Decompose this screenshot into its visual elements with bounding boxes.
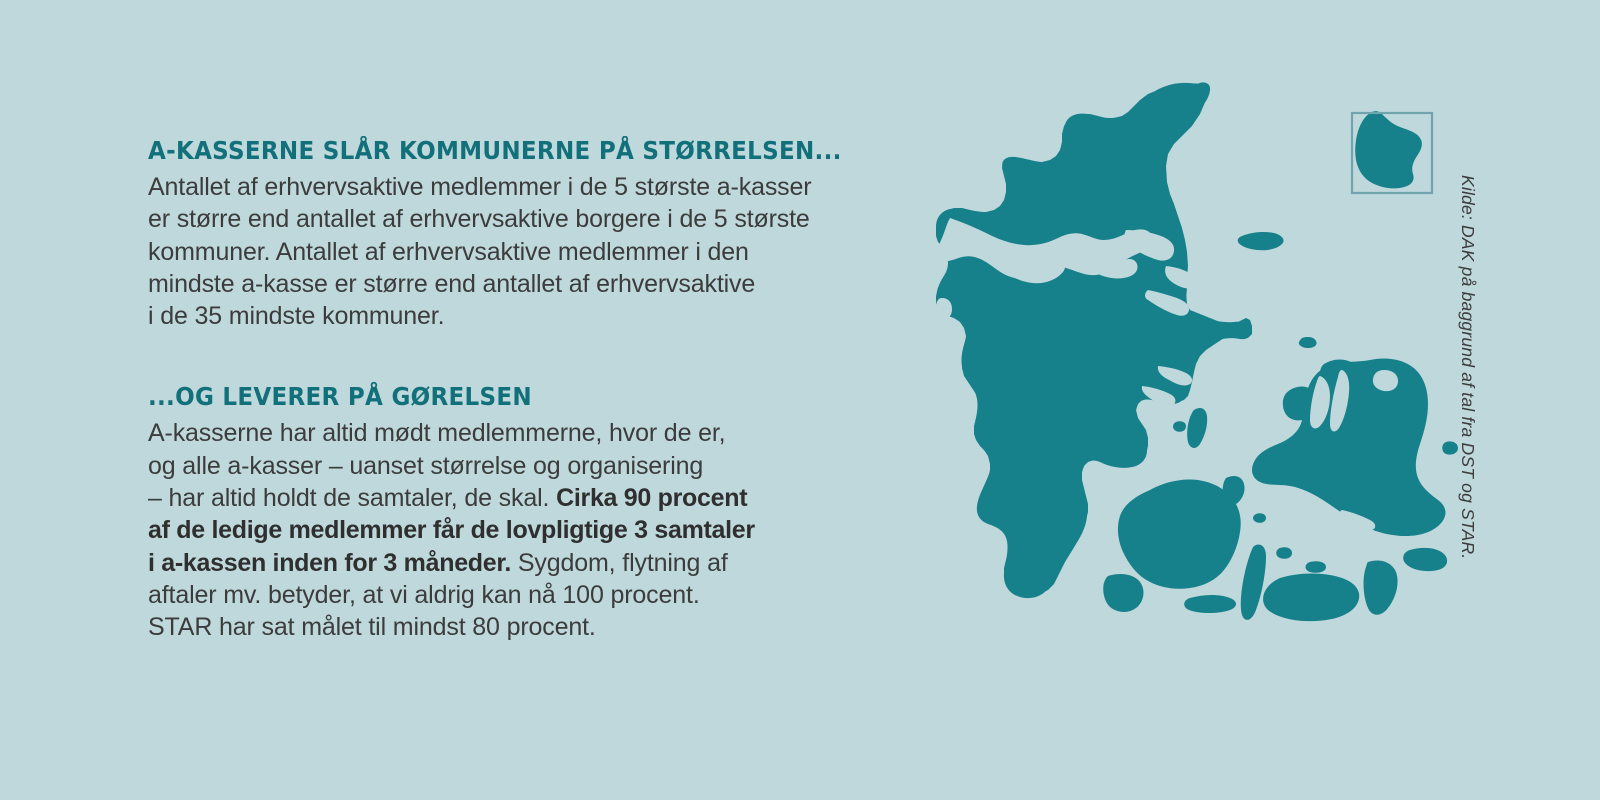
text-column: A-KASSERNE SLÅR KOMMUNERNE PÅ STØRRELSEN… (148, 136, 908, 644)
block-1-line-3: kommuner. Antallet af erhvervsaktive med… (148, 236, 908, 268)
block-1-heading: A-KASSERNE SLÅR KOMMUNERNE PÅ STØRRELSEN… (148, 136, 862, 166)
sprogo-isle (1253, 513, 1266, 523)
block-2-bold-tail: Sygdom, flytning af (511, 549, 728, 577)
denmark-landmass (929, 82, 1458, 621)
block-2-bold-part-3: i a-kassen inden for 3 måneder. (148, 549, 511, 577)
block-2-bold-part-1: Cirka 90 procent (556, 484, 747, 512)
bornholm-island (1355, 111, 1422, 188)
block-2-line-4: af de ledige medlemmer får de lovpligtig… (148, 514, 908, 546)
block-1-line-5: i de 35 mindste kommuner. (148, 300, 908, 332)
als-island (1103, 574, 1143, 612)
funen-island (1118, 479, 1241, 588)
anholt-island (1299, 337, 1317, 348)
block-2-bold-part-2: af de ledige medlemmer får de lovpligtig… (148, 516, 755, 544)
block-2-line-2: og alle a-kasser – uanset størrelse og o… (148, 450, 908, 482)
block-1-body: Antallet af erhvervsaktive medlemmer i d… (148, 171, 908, 332)
block-2-line-7: STAR har sat målet til mindst 80 procent… (148, 611, 908, 643)
block-2-line-3-plain: – har altid holdt de samtaler, de skal. (148, 484, 556, 512)
west-lagoon-south (960, 461, 977, 501)
text-block-size-comparison: A-KASSERNE SLÅR KOMMUNERNE PÅ STØRRELSEN… (148, 136, 908, 332)
hven-isle (1442, 441, 1458, 454)
laeso-island (1238, 232, 1284, 250)
block-1-line-1: Antallet af erhvervsaktive medlemmer i d… (148, 171, 908, 203)
denmark-map-svg (890, 70, 1480, 720)
denmark-map (890, 70, 1480, 720)
langeland-island (1241, 544, 1266, 619)
block-2-line-1: A-kasserne har altid mødt medlemmerne, h… (148, 417, 908, 449)
falster-island (1364, 560, 1398, 614)
samso-island (1187, 408, 1207, 448)
block-2-line-3: – har altid holdt de samtaler, de skal. … (148, 482, 908, 514)
block-1-line-2: er større end antallet af erhvervsaktive… (148, 203, 908, 235)
omo-isle (1276, 547, 1292, 559)
mon-island (1403, 548, 1447, 571)
lolland-island (1263, 574, 1359, 622)
block-2-line-5: i a-kassen inden for 3 måneder. Sygdom, … (148, 547, 908, 579)
block-1-line-4: mindste a-kasse er større end antallet a… (148, 268, 908, 300)
aero-island (1184, 595, 1236, 613)
small-isle-endelave (1173, 421, 1186, 432)
text-block-delivery: ...OG LEVERER PÅ GØRELSEN A-kasserne har… (148, 382, 908, 643)
ringkobing-fjord (929, 337, 950, 387)
block-2-heading: ...OG LEVERER PÅ GØRELSEN (148, 382, 862, 412)
infographic-canvas: A-KASSERNE SLÅR KOMMUNERNE PÅ STØRRELSEN… (0, 0, 1600, 800)
block-2-line-6: aftaler mv. betyder, at vi aldrig kan nå… (148, 579, 908, 611)
hindsholm-peninsula (1223, 476, 1245, 505)
fejo-isle (1306, 561, 1327, 573)
block-2-body: A-kasserne har altid mødt medlemmerne, h… (148, 417, 908, 643)
